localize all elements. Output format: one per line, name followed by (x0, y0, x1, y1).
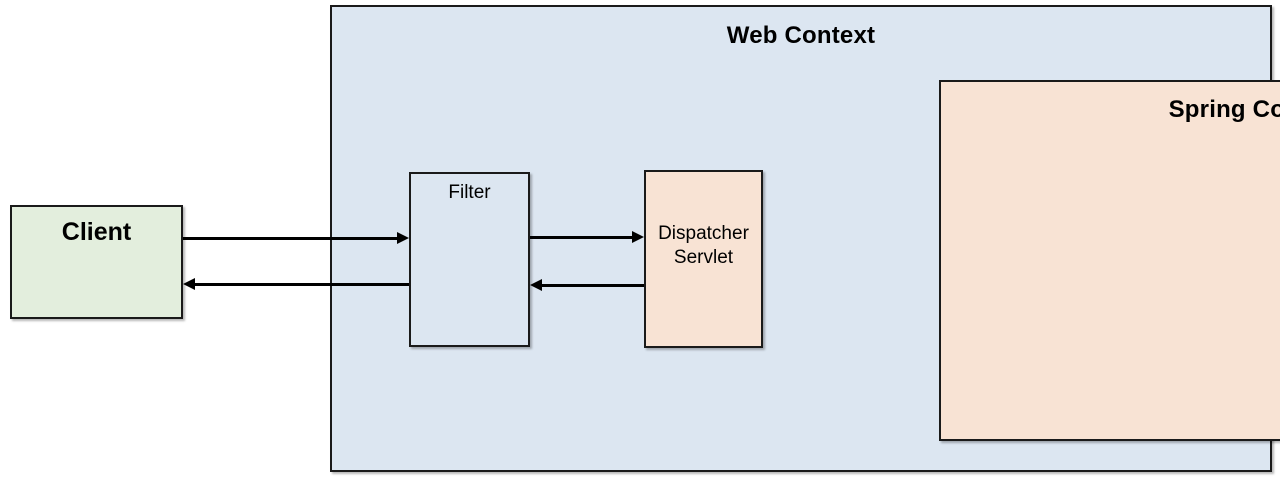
spring-context-title: Spring Context (941, 98, 1280, 122)
arrow-filter-to-client (194, 283, 409, 286)
node-dispatcher-servlet-label-line2: Servlet (674, 247, 733, 268)
node-client: Client (10, 205, 183, 319)
node-filter: Filter (409, 172, 530, 347)
arrow-filter-to-dispatcher-servlet (530, 236, 633, 239)
arrowhead-right-icon (632, 231, 644, 243)
spring-context-container: Spring Context (939, 80, 1280, 441)
arrowhead-left-icon (530, 279, 542, 291)
node-dispatcher-servlet: Dispatcher Servlet (644, 170, 763, 348)
arrow-client-to-filter (183, 237, 398, 240)
diagram-canvas: Web Context Spring Context Client Filter… (0, 0, 1280, 478)
node-dispatcher-servlet-label: Dispatcher Servlet (646, 222, 761, 271)
node-client-label: Client (12, 220, 181, 245)
arrowhead-left-icon (183, 278, 195, 290)
arrowhead-right-icon (397, 232, 409, 244)
node-dispatcher-servlet-label-line1: Dispatcher (658, 223, 749, 244)
web-context-title: Web Context (332, 24, 1270, 48)
node-filter-label: Filter (411, 182, 528, 204)
arrow-dispatcher-servlet-to-filter (541, 284, 644, 287)
